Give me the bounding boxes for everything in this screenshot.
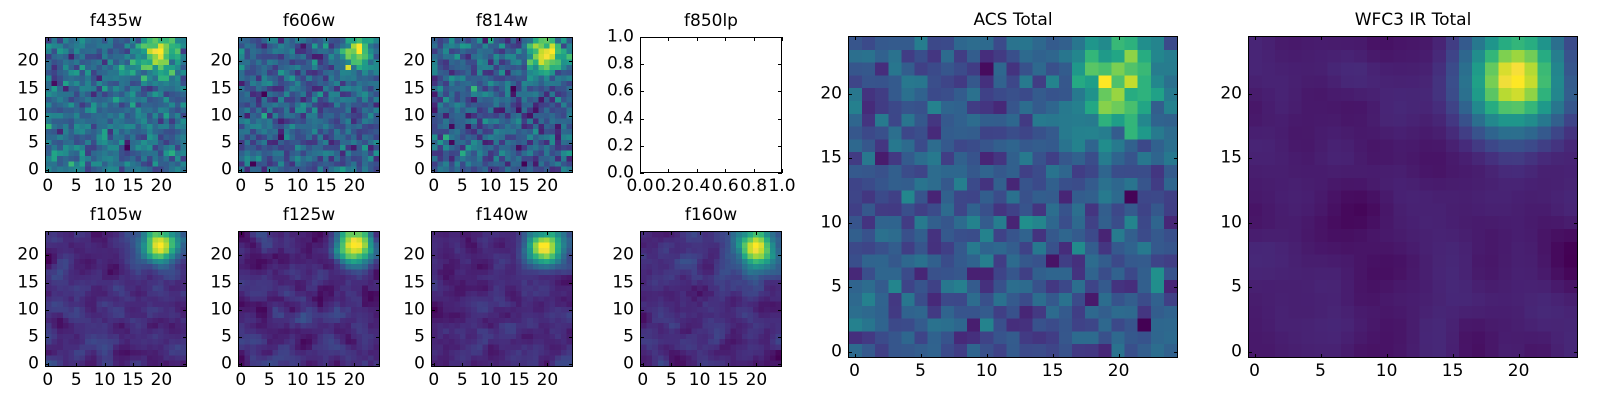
- y-tick-mark: [431, 337, 435, 338]
- x-tick-mark-top: [354, 37, 355, 41]
- x-tick-mark-top: [547, 37, 548, 41]
- x-tick-mark-top: [1255, 36, 1256, 40]
- y-tick-mark-right: [569, 310, 573, 311]
- x-tick-mark-top: [76, 37, 77, 41]
- heatmap-axes-f105w: [45, 231, 187, 367]
- y-tick-label: 10: [1220, 214, 1242, 231]
- x-tick-label: 5: [666, 372, 677, 389]
- y-tick-mark-right: [569, 143, 573, 144]
- y-tick-mark-right: [183, 283, 187, 284]
- x-tick-mark-top: [105, 231, 106, 235]
- y-tick-mark-right: [1574, 94, 1578, 95]
- x-tick-label: 0: [849, 363, 860, 380]
- y-tick-mark: [848, 352, 852, 353]
- y-tick-mark-right: [778, 337, 782, 338]
- x-tick-mark-top: [547, 231, 548, 235]
- x-tick-mark-top: [519, 37, 520, 41]
- y-tick-mark: [45, 170, 49, 171]
- y-tick-label: 0: [28, 356, 39, 373]
- y-tick-mark: [45, 61, 49, 62]
- x-tick-mark: [754, 169, 755, 173]
- y-tick-mark-right: [1174, 287, 1178, 288]
- x-tick-mark-top: [1387, 36, 1388, 40]
- x-tick-mark: [491, 363, 492, 367]
- x-tick-mark-top: [668, 37, 669, 41]
- heatmap-image: [849, 37, 1177, 357]
- y-tick-mark-right: [778, 37, 782, 38]
- y-tick-label: 10: [17, 107, 39, 124]
- y-tick-mark-right: [778, 364, 782, 365]
- y-tick-label: 10: [210, 107, 232, 124]
- y-tick-label: 15: [210, 274, 232, 291]
- x-tick-mark-top: [700, 231, 701, 235]
- x-tick-mark-top: [76, 231, 77, 235]
- x-tick-mark-top: [462, 231, 463, 235]
- x-tick-label: 10: [94, 372, 116, 389]
- x-tick-label: 5: [71, 178, 82, 195]
- x-tick-mark-top: [241, 231, 242, 235]
- y-tick-label: 20: [1220, 85, 1242, 102]
- x-tick-mark: [1519, 354, 1520, 358]
- panel-title-f435w: f435w: [45, 13, 187, 30]
- y-tick-label: 15: [403, 274, 425, 291]
- y-tick-mark-right: [376, 337, 380, 338]
- y-tick-label: 20: [17, 247, 39, 264]
- x-tick-mark-top: [133, 231, 134, 235]
- x-tick-mark: [462, 169, 463, 173]
- y-tick-label: 15: [210, 80, 232, 97]
- x-tick-label: 20: [1108, 363, 1130, 380]
- x-tick-label: 0: [428, 178, 439, 195]
- y-tick-mark: [238, 364, 242, 365]
- y-tick-mark-right: [778, 119, 782, 120]
- y-tick-mark-right: [1574, 223, 1578, 224]
- y-tick-mark: [640, 64, 644, 65]
- x-tick-label: 20: [151, 178, 173, 195]
- x-tick-mark: [269, 169, 270, 173]
- panel-title-f606w: f606w: [238, 13, 380, 30]
- y-tick-mark-right: [376, 116, 380, 117]
- x-tick-mark-top: [855, 36, 856, 40]
- x-tick-mark: [354, 169, 355, 173]
- x-tick-mark-top: [326, 231, 327, 235]
- y-tick-label: 20: [210, 53, 232, 70]
- x-tick-mark: [725, 169, 726, 173]
- x-tick-label: 15: [315, 372, 337, 389]
- x-tick-mark: [354, 363, 355, 367]
- y-tick-label: 0.0: [607, 165, 634, 182]
- panel-title-f140w: f140w: [431, 207, 573, 224]
- x-tick-mark-top: [354, 231, 355, 235]
- x-tick-mark: [1321, 354, 1322, 358]
- x-tick-mark: [1119, 354, 1120, 358]
- y-tick-label: 5: [221, 135, 232, 152]
- y-tick-label: 5: [831, 279, 842, 296]
- y-tick-mark: [1248, 158, 1252, 159]
- x-tick-label: 15: [122, 178, 144, 195]
- y-tick-label: 0: [221, 162, 232, 179]
- x-tick-mark-top: [1053, 36, 1054, 40]
- y-tick-mark: [238, 310, 242, 311]
- x-tick-mark-top: [434, 231, 435, 235]
- panel-title-f125w: f125w: [238, 207, 380, 224]
- x-tick-label: 0.2: [655, 178, 682, 195]
- y-tick-mark-right: [183, 61, 187, 62]
- panel-title-f814w: f814w: [431, 13, 573, 30]
- x-tick-mark: [326, 169, 327, 173]
- x-tick-label: 15: [315, 178, 337, 195]
- y-tick-label: 0: [28, 162, 39, 179]
- y-tick-mark: [238, 170, 242, 171]
- y-tick-mark-right: [778, 64, 782, 65]
- x-tick-label: 5: [457, 178, 468, 195]
- y-tick-label: 5: [1231, 279, 1242, 296]
- x-tick-mark-top: [326, 37, 327, 41]
- x-tick-mark: [1387, 354, 1388, 358]
- x-tick-label: 10: [480, 178, 502, 195]
- x-tick-mark-top: [697, 37, 698, 41]
- y-tick-mark: [45, 310, 49, 311]
- y-tick-label: 10: [612, 301, 634, 318]
- heatmap-axes-wfc3-ir-total: [1248, 36, 1578, 358]
- heatmap-image: [432, 232, 572, 366]
- y-tick-label: 0: [221, 356, 232, 373]
- y-tick-label: 20: [820, 85, 842, 102]
- y-tick-mark-right: [376, 170, 380, 171]
- x-tick-mark: [697, 169, 698, 173]
- x-tick-mark: [756, 363, 757, 367]
- x-tick-mark-top: [48, 37, 49, 41]
- y-tick-mark-right: [376, 89, 380, 90]
- y-tick-mark: [640, 337, 644, 338]
- x-tick-label: 10: [287, 178, 309, 195]
- y-tick-mark-right: [569, 364, 573, 365]
- heatmap-image: [1249, 37, 1577, 357]
- x-tick-mark-top: [756, 231, 757, 235]
- x-tick-mark-top: [161, 231, 162, 235]
- y-tick-label: 20: [612, 247, 634, 264]
- y-tick-mark-right: [1174, 158, 1178, 159]
- x-tick-mark-top: [1321, 36, 1322, 40]
- x-tick-label: 0: [235, 178, 246, 195]
- heatmap-axes-f850lp: [640, 37, 782, 173]
- heatmap-axes-f125w: [238, 231, 380, 367]
- x-tick-label: 5: [71, 372, 82, 389]
- x-tick-mark: [519, 169, 520, 173]
- y-tick-label: 5: [414, 135, 425, 152]
- y-tick-label: 10: [820, 214, 842, 231]
- x-tick-label: 10: [480, 372, 502, 389]
- y-tick-mark-right: [569, 337, 573, 338]
- y-tick-label: 10: [17, 301, 39, 318]
- y-tick-label: 0.2: [607, 137, 634, 154]
- heatmap-image: [432, 38, 572, 172]
- y-tick-mark: [1248, 223, 1252, 224]
- x-tick-mark-top: [298, 231, 299, 235]
- y-tick-mark: [431, 364, 435, 365]
- y-tick-label: 5: [28, 329, 39, 346]
- y-tick-mark-right: [376, 364, 380, 365]
- y-tick-label: 5: [623, 329, 634, 346]
- x-tick-label: 5: [264, 178, 275, 195]
- heatmap-image: [46, 38, 186, 172]
- y-tick-mark: [431, 61, 435, 62]
- y-tick-mark-right: [376, 310, 380, 311]
- y-tick-label: 15: [17, 80, 39, 97]
- y-tick-mark-right: [376, 143, 380, 144]
- y-tick-mark-right: [1174, 94, 1178, 95]
- y-tick-label: 5: [28, 135, 39, 152]
- y-tick-mark-right: [778, 310, 782, 311]
- y-tick-mark-right: [183, 89, 187, 90]
- y-tick-mark-right: [1574, 158, 1578, 159]
- y-tick-mark: [640, 310, 644, 311]
- x-tick-mark-top: [782, 37, 783, 41]
- x-tick-mark-top: [241, 37, 242, 41]
- y-tick-mark: [640, 119, 644, 120]
- x-tick-mark: [133, 169, 134, 173]
- y-tick-mark: [45, 89, 49, 90]
- y-tick-mark-right: [569, 116, 573, 117]
- y-tick-mark-right: [183, 170, 187, 171]
- x-tick-mark: [1053, 354, 1054, 358]
- x-tick-mark: [547, 169, 548, 173]
- panel-title-acs-total: ACS Total: [848, 12, 1178, 29]
- y-tick-mark: [431, 170, 435, 171]
- y-tick-mark: [640, 37, 644, 38]
- y-tick-mark: [640, 146, 644, 147]
- y-tick-mark: [431, 283, 435, 284]
- x-tick-label: 10: [689, 372, 711, 389]
- x-tick-mark: [269, 363, 270, 367]
- x-tick-mark-top: [921, 36, 922, 40]
- heatmap-axes-f140w: [431, 231, 573, 367]
- y-tick-mark-right: [778, 255, 782, 256]
- x-tick-label: 0.6: [712, 178, 739, 195]
- y-tick-mark-right: [183, 337, 187, 338]
- x-tick-mark: [519, 363, 520, 367]
- y-tick-mark: [238, 337, 242, 338]
- y-tick-mark: [640, 91, 644, 92]
- y-tick-mark: [431, 143, 435, 144]
- y-tick-mark-right: [376, 255, 380, 256]
- x-tick-mark: [133, 363, 134, 367]
- y-tick-label: 15: [1220, 150, 1242, 167]
- y-tick-label: 20: [403, 53, 425, 70]
- x-tick-mark: [326, 363, 327, 367]
- panel-title-f850lp: f850lp: [640, 13, 782, 30]
- y-tick-mark: [45, 364, 49, 365]
- x-tick-label: 1.0: [768, 178, 795, 195]
- x-tick-mark-top: [728, 231, 729, 235]
- y-tick-mark: [45, 337, 49, 338]
- y-tick-mark: [1248, 94, 1252, 95]
- x-tick-label: 20: [537, 178, 559, 195]
- y-tick-mark: [640, 283, 644, 284]
- x-tick-mark: [728, 363, 729, 367]
- y-tick-mark-right: [183, 143, 187, 144]
- y-tick-mark: [848, 287, 852, 288]
- x-tick-mark-top: [987, 36, 988, 40]
- x-tick-label: 15: [122, 372, 144, 389]
- x-tick-mark-top: [105, 37, 106, 41]
- y-tick-mark: [848, 94, 852, 95]
- x-tick-label: 15: [508, 372, 530, 389]
- y-tick-mark: [238, 116, 242, 117]
- y-tick-mark-right: [183, 310, 187, 311]
- y-tick-label: 0: [831, 343, 842, 360]
- x-tick-label: 0.4: [683, 178, 710, 195]
- y-tick-label: 20: [17, 53, 39, 70]
- x-tick-label: 20: [746, 372, 768, 389]
- x-tick-mark-top: [725, 37, 726, 41]
- x-tick-label: 20: [151, 372, 173, 389]
- x-tick-mark-top: [462, 37, 463, 41]
- y-tick-label: 15: [403, 80, 425, 97]
- y-tick-mark: [45, 143, 49, 144]
- y-tick-label: 0.8: [607, 56, 634, 73]
- x-tick-mark: [1453, 354, 1454, 358]
- heatmap-image: [641, 232, 781, 366]
- x-tick-mark-top: [434, 37, 435, 41]
- x-tick-label: 20: [344, 372, 366, 389]
- x-tick-mark: [76, 169, 77, 173]
- y-tick-mark-right: [569, 89, 573, 90]
- y-tick-mark: [640, 255, 644, 256]
- x-tick-mark-top: [671, 231, 672, 235]
- y-tick-label: 15: [612, 274, 634, 291]
- x-tick-mark-top: [519, 231, 520, 235]
- x-tick-label: 20: [344, 178, 366, 195]
- y-tick-mark: [848, 223, 852, 224]
- x-tick-mark-top: [491, 37, 492, 41]
- x-tick-mark: [1255, 354, 1256, 358]
- heatmap-axes-f814w: [431, 37, 573, 173]
- x-tick-label: 0: [235, 372, 246, 389]
- panel-title-wfc3-ir-total: WFC3 IR Total: [1248, 12, 1578, 29]
- x-tick-mark-top: [161, 37, 162, 41]
- panel-title-f160w: f160w: [640, 207, 782, 224]
- x-tick-label: 15: [508, 178, 530, 195]
- x-tick-mark: [105, 363, 106, 367]
- y-tick-label: 0: [414, 162, 425, 179]
- y-tick-mark: [431, 116, 435, 117]
- x-tick-label: 5: [457, 372, 468, 389]
- x-tick-label: 20: [1508, 363, 1530, 380]
- x-tick-mark: [161, 363, 162, 367]
- y-tick-label: 10: [403, 107, 425, 124]
- x-tick-label: 5: [264, 372, 275, 389]
- x-tick-label: 10: [287, 372, 309, 389]
- x-tick-label: 10: [1376, 363, 1398, 380]
- y-tick-mark: [1248, 287, 1252, 288]
- y-tick-label: 1.0: [607, 29, 634, 46]
- x-tick-mark: [671, 363, 672, 367]
- x-tick-label: 5: [1315, 363, 1326, 380]
- x-tick-mark: [298, 363, 299, 367]
- y-tick-mark-right: [569, 61, 573, 62]
- y-tick-label: 5: [221, 329, 232, 346]
- x-tick-mark: [105, 169, 106, 173]
- x-tick-mark: [76, 363, 77, 367]
- x-tick-label: 15: [717, 372, 739, 389]
- y-tick-mark-right: [1574, 287, 1578, 288]
- x-tick-label: 20: [537, 372, 559, 389]
- x-tick-label: 0: [42, 372, 53, 389]
- y-tick-label: 20: [210, 247, 232, 264]
- y-tick-mark-right: [569, 170, 573, 171]
- y-tick-mark-right: [1174, 352, 1178, 353]
- x-tick-mark: [161, 169, 162, 173]
- y-tick-mark: [238, 61, 242, 62]
- x-tick-mark-top: [133, 37, 134, 41]
- y-tick-mark: [848, 158, 852, 159]
- y-tick-mark: [431, 310, 435, 311]
- x-tick-mark: [700, 363, 701, 367]
- y-tick-mark: [431, 255, 435, 256]
- x-tick-mark-top: [491, 231, 492, 235]
- y-tick-mark: [238, 283, 242, 284]
- y-tick-mark: [640, 173, 644, 174]
- y-tick-mark-right: [778, 146, 782, 147]
- y-tick-mark: [1248, 352, 1252, 353]
- y-tick-mark: [238, 255, 242, 256]
- y-tick-mark-right: [778, 173, 782, 174]
- x-tick-mark-top: [1519, 36, 1520, 40]
- heatmap-axes-f435w: [45, 37, 187, 173]
- heatmap-image: [239, 38, 379, 172]
- x-tick-label: 5: [915, 363, 926, 380]
- y-tick-mark: [238, 143, 242, 144]
- x-tick-mark-top: [298, 37, 299, 41]
- x-tick-mark-top: [269, 37, 270, 41]
- y-tick-label: 0: [1231, 343, 1242, 360]
- y-tick-mark: [431, 89, 435, 90]
- x-tick-label: 10: [976, 363, 998, 380]
- y-tick-label: 10: [210, 301, 232, 318]
- x-tick-label: 15: [1042, 363, 1064, 380]
- y-tick-mark-right: [376, 283, 380, 284]
- x-tick-label: 0: [1249, 363, 1260, 380]
- panel-title-f105w: f105w: [45, 207, 187, 224]
- x-tick-mark: [855, 354, 856, 358]
- heatmap-axes-acs-total: [848, 36, 1178, 358]
- x-tick-label: 15: [1442, 363, 1464, 380]
- x-tick-mark-top: [48, 231, 49, 235]
- heatmap-image: [46, 232, 186, 366]
- y-tick-mark-right: [1574, 352, 1578, 353]
- x-tick-mark-top: [269, 231, 270, 235]
- x-tick-label: 0: [428, 372, 439, 389]
- x-tick-mark-top: [754, 37, 755, 41]
- heatmap-image: [239, 232, 379, 366]
- x-tick-mark: [298, 169, 299, 173]
- y-tick-mark: [45, 255, 49, 256]
- y-tick-mark: [45, 116, 49, 117]
- x-tick-label: 10: [94, 178, 116, 195]
- y-tick-mark-right: [183, 116, 187, 117]
- x-tick-mark: [782, 169, 783, 173]
- y-tick-label: 15: [17, 274, 39, 291]
- y-tick-mark: [238, 89, 242, 90]
- figure-canvas: f435w0510152005101520f606w05101520051015…: [0, 0, 1600, 400]
- x-tick-mark-top: [643, 231, 644, 235]
- x-tick-mark: [547, 363, 548, 367]
- y-tick-mark-right: [1174, 223, 1178, 224]
- x-tick-mark: [462, 363, 463, 367]
- x-tick-mark: [668, 169, 669, 173]
- x-tick-mark: [921, 354, 922, 358]
